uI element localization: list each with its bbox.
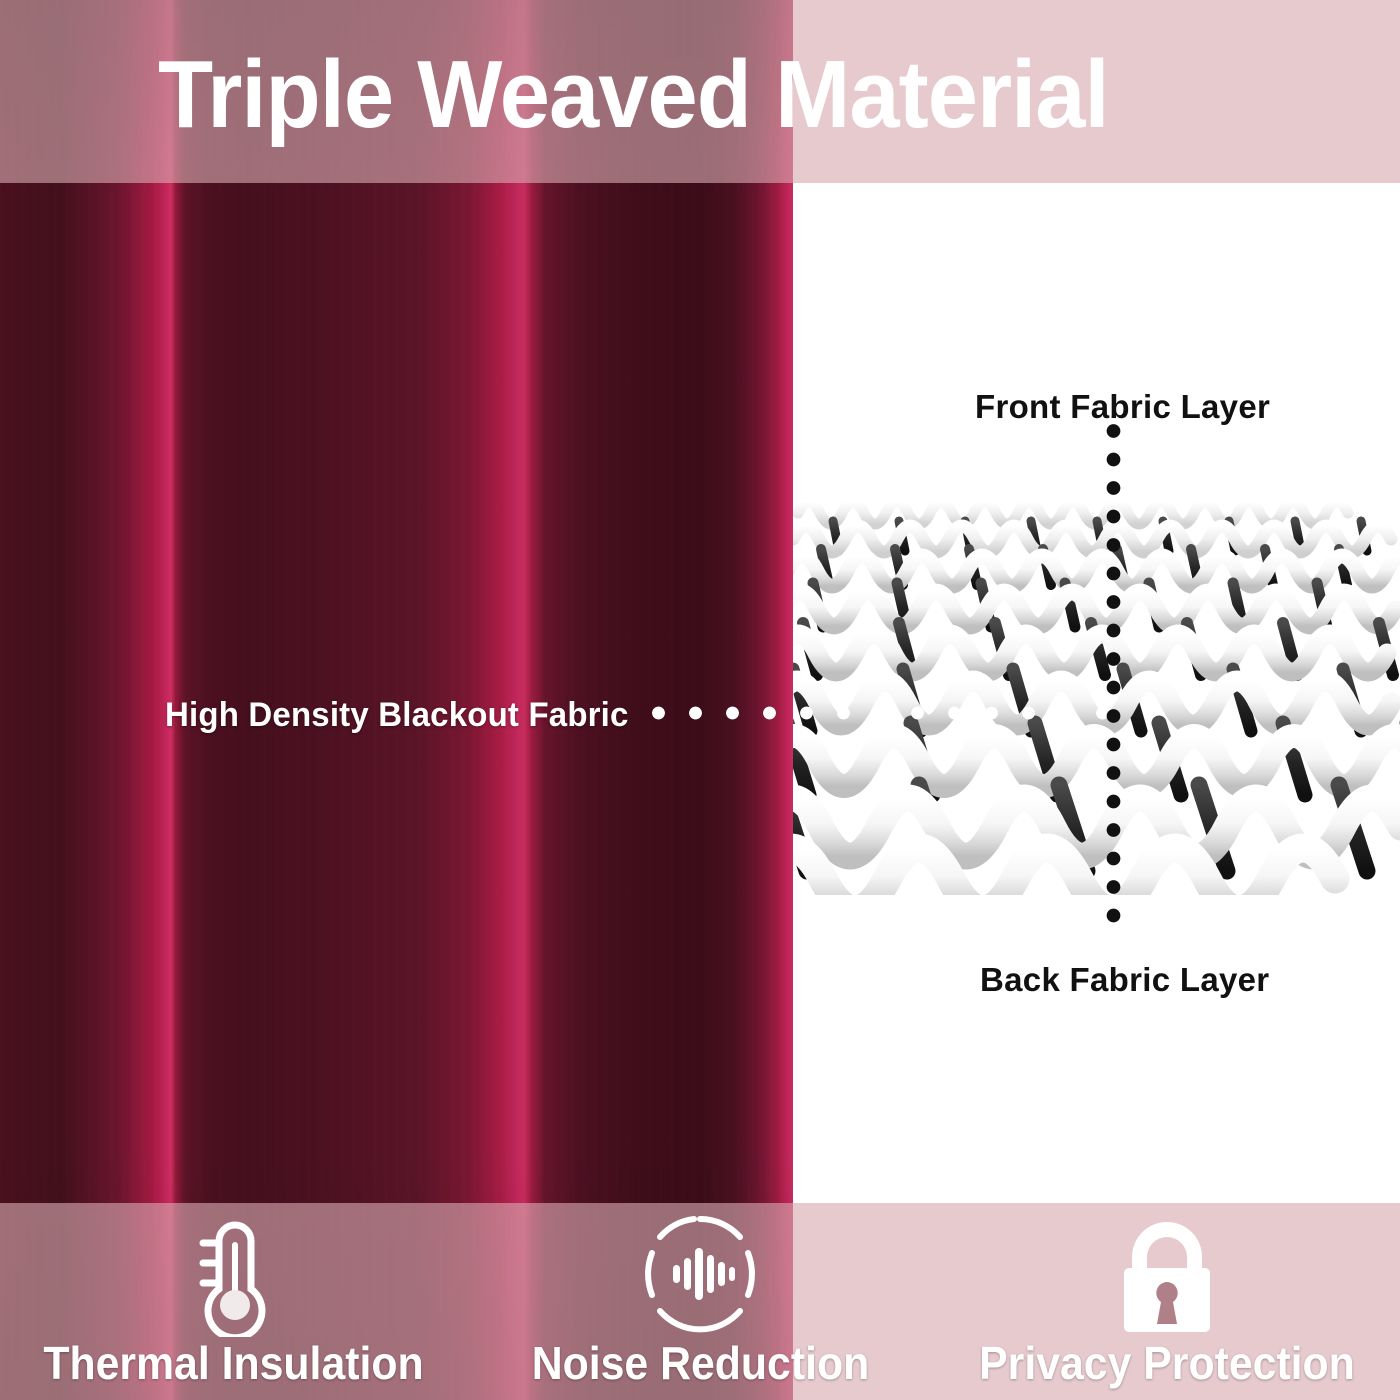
feature-label-privacy-protection: Privacy Protection [979, 1339, 1355, 1387]
sound-wave-icon [640, 1211, 760, 1337]
feature-label-noise-reduction: Noise Reduction [531, 1339, 869, 1387]
blackout-leader-dotted-line [652, 706, 1122, 720]
feature-privacy-protection: Privacy Protection [933, 1203, 1400, 1400]
feature-list: Thermal Insulation [0, 1203, 1400, 1400]
product-infographic: Triple Weaved Material Front Fabric Laye… [0, 0, 1400, 1400]
thermometer-icon [177, 1211, 289, 1337]
page-title: Triple Weaved Material [158, 47, 1109, 143]
high-density-blackout-fabric-label: High Density Blackout Fabric [165, 696, 629, 735]
front-fabric-layer-label: Front Fabric Layer [975, 388, 1270, 426]
feature-noise-reduction: Noise Reduction [467, 1203, 934, 1400]
woven-mesh-illustration [793, 455, 1400, 895]
padlock-icon [1108, 1211, 1226, 1337]
feature-thermal-insulation: Thermal Insulation [0, 1203, 467, 1400]
back-fabric-layer-label: Back Fabric Layer [980, 961, 1269, 999]
feature-label-thermal-insulation: Thermal Insulation [43, 1339, 423, 1387]
layer-divider-dotted-line [1106, 424, 1121, 934]
mesh-yarn-rows [793, 502, 1400, 895]
